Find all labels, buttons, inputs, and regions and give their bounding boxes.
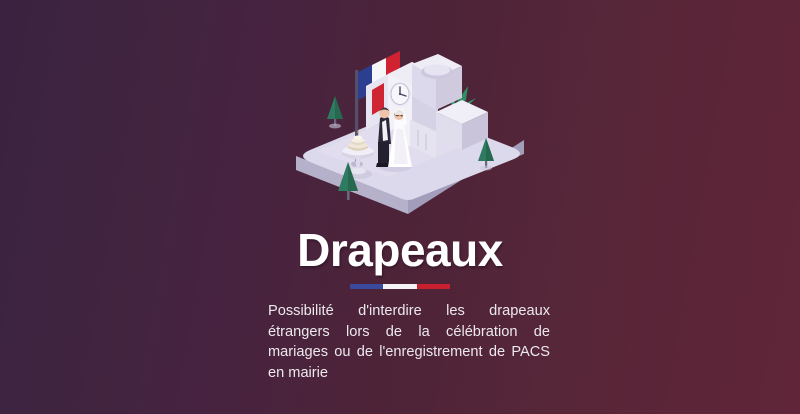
title-block: Drapeaux	[0, 226, 800, 289]
divider-band-white	[383, 284, 416, 289]
french-tricolor-divider	[350, 284, 450, 289]
hero-card: Drapeaux Possibilité d'interdire les dra…	[0, 0, 800, 414]
clock-icon	[389, 82, 411, 107]
divider-band-red	[417, 284, 450, 289]
subtitle-text: Possibilité d'interdire les drapeaux étr…	[268, 301, 550, 383]
isometric-mairie-wedding-illustration	[292, 46, 528, 214]
tree-icon-left-back	[327, 96, 343, 128]
divider-band-blue	[350, 284, 383, 289]
page-title: Drapeaux	[0, 226, 800, 275]
